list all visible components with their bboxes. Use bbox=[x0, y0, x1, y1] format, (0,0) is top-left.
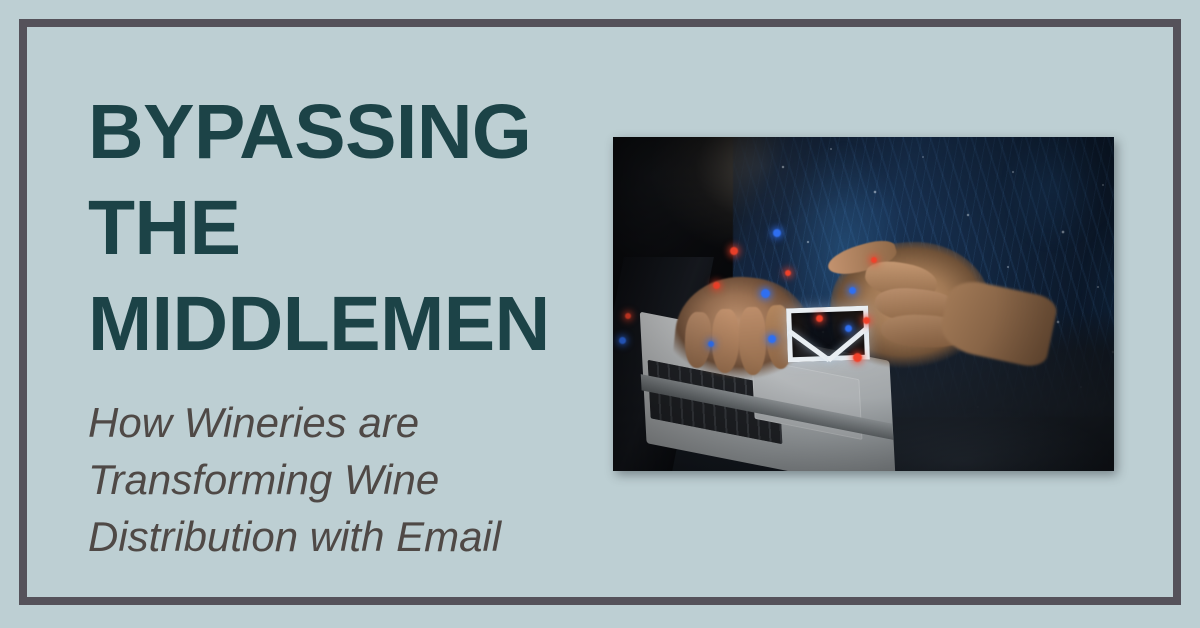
particle-dot-blue bbox=[845, 325, 852, 332]
hero-photo-scene bbox=[613, 137, 1114, 471]
particle-dot-red bbox=[871, 257, 877, 263]
particle-dot-blue bbox=[768, 335, 776, 343]
particle-dot-blue bbox=[708, 341, 714, 347]
particle-dot-blue bbox=[773, 229, 781, 237]
particle-dot-blue bbox=[849, 287, 856, 294]
blog-header-banner: BYPASSING THE MIDDLEMEN How Wineries are… bbox=[0, 0, 1200, 628]
left-hand-finger bbox=[738, 307, 766, 375]
particle-dot-red bbox=[730, 247, 738, 255]
page-title: BYPASSING THE MIDDLEMEN bbox=[88, 84, 588, 372]
hero-photo bbox=[613, 137, 1114, 471]
particle-dot-red bbox=[713, 282, 720, 289]
page-subtitle: How Wineries are Transforming Wine Distr… bbox=[88, 372, 588, 565]
particle-dot-red bbox=[863, 317, 870, 324]
particle-dot-red bbox=[785, 270, 791, 276]
particle-dot-blue bbox=[619, 337, 626, 344]
text-column: BYPASSING THE MIDDLEMEN How Wineries are… bbox=[88, 84, 588, 565]
particle-dot-red bbox=[625, 313, 631, 319]
particle-dot-red bbox=[853, 353, 862, 362]
particle-dot-red bbox=[816, 315, 823, 322]
particle-dot-blue bbox=[761, 289, 770, 298]
